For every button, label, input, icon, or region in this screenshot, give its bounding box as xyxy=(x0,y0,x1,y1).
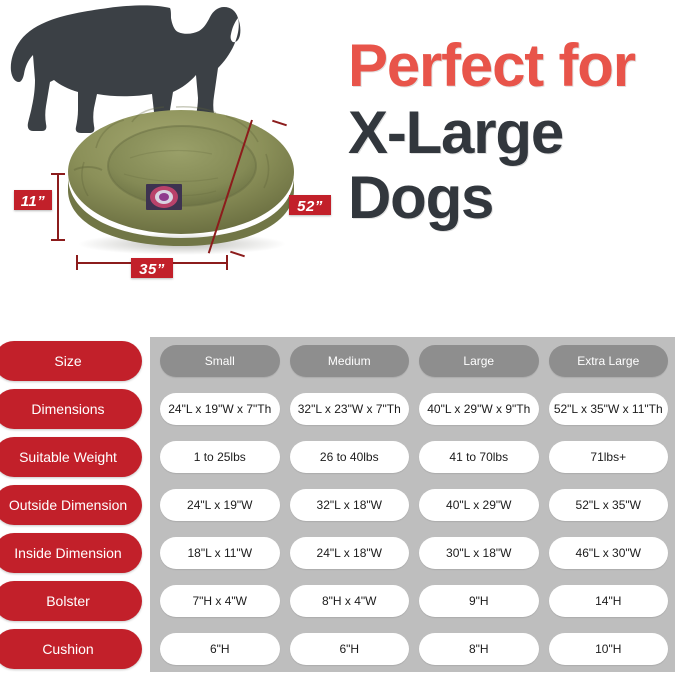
dimension-line-height xyxy=(57,173,59,241)
table-cell: 32"L x 23"W x 7"Th xyxy=(290,393,410,425)
table-cell: 52"L x 35"W xyxy=(549,489,669,521)
row-label-outside-dimension[interactable]: Outside Dimension xyxy=(0,485,142,525)
table-cell: 8"H x 4"W xyxy=(290,585,410,617)
table-header-row: SmallMediumLargeExtra Large xyxy=(160,345,668,385)
table-cell: 10"H xyxy=(549,633,669,665)
headline-block: Perfect for X-Large Dogs xyxy=(348,38,678,226)
table-cell: 71lbs+ xyxy=(549,441,669,473)
row-label-suitable-weight[interactable]: Suitable Weight xyxy=(0,437,142,477)
table-cell: 18"L x 11"W xyxy=(160,537,280,569)
dimension-label-width: 35” xyxy=(131,258,173,278)
table-cell: 46"L x 30"W xyxy=(549,537,669,569)
table-cell: 24"L x 18"W xyxy=(290,537,410,569)
dimension-cap-width-right xyxy=(226,255,228,270)
dimension-cap-height-top xyxy=(51,173,65,175)
table-row-label-column: SizeDimensionsSuitable WeightOutside Dim… xyxy=(0,337,148,672)
row-label-inside-dimension[interactable]: Inside Dimension xyxy=(0,533,142,573)
headline-line-1: Perfect for xyxy=(348,38,678,93)
hero-section: 11” 35” 52” Perfect for X-Large Dogs xyxy=(0,0,679,330)
headline-line-2: X-Large xyxy=(348,105,678,160)
column-header-large[interactable]: Large xyxy=(419,345,539,377)
table-cell: 40"L x 29"W x 9"Th xyxy=(419,393,539,425)
table-cell: 32"L x 18"W xyxy=(290,489,410,521)
table-cell: 26 to 40lbs xyxy=(290,441,410,473)
table-cell: 8"H xyxy=(419,633,539,665)
row-label-bolster[interactable]: Bolster xyxy=(0,581,142,621)
dimension-cap-width-left xyxy=(76,255,78,270)
size-spec-table: SizeDimensionsSuitable WeightOutside Dim… xyxy=(0,337,679,680)
table-row: 6"H6"H8"H10"H xyxy=(160,633,668,673)
row-label-cushion[interactable]: Cushion xyxy=(0,629,142,669)
table-cell: 30"L x 18"W xyxy=(419,537,539,569)
table-row: 18"L x 11"W24"L x 18"W30"L x 18"W46"L x … xyxy=(160,537,668,577)
table-cell: 24"L x 19"W xyxy=(160,489,280,521)
table-cell: 52"L x 35"W x 11"Th xyxy=(549,393,669,425)
row-label-size[interactable]: Size xyxy=(0,341,142,381)
column-header-medium[interactable]: Medium xyxy=(290,345,410,377)
table-cell: 9"H xyxy=(419,585,539,617)
table-cell: 24"L x 19"W x 7"Th xyxy=(160,393,280,425)
dimension-label-length: 52” xyxy=(289,195,331,215)
table-cell: 41 to 70lbs xyxy=(419,441,539,473)
row-label-dimensions[interactable]: Dimensions xyxy=(0,389,142,429)
table-cell: 1 to 25lbs xyxy=(160,441,280,473)
table-row: 1 to 25lbs26 to 40lbs41 to 70lbs71lbs+ xyxy=(160,441,668,481)
table-data-grid: SmallMediumLargeExtra Large24"L x 19"W x… xyxy=(160,345,668,681)
table-row: 24"L x 19"W x 7"Th32"L x 23"W x 7"Th40"L… xyxy=(160,393,668,433)
dimension-cap-height-bottom xyxy=(51,239,65,241)
table-row: 7"H x 4"W8"H x 4"W9"H14"H xyxy=(160,585,668,625)
table-cell: 6"H xyxy=(290,633,410,665)
column-header-small[interactable]: Small xyxy=(160,345,280,377)
column-header-extra-large[interactable]: Extra Large xyxy=(549,345,669,377)
table-cell: 6"H xyxy=(160,633,280,665)
brand-tag xyxy=(146,184,182,210)
dimension-label-height: 11” xyxy=(14,190,52,210)
headline-line-3: Dogs xyxy=(348,170,678,225)
product-photo-dog-bed xyxy=(60,96,302,256)
table-cell: 14"H xyxy=(549,585,669,617)
table-cell: 40"L x 29"W xyxy=(419,489,539,521)
table-cell: 7"H x 4"W xyxy=(160,585,280,617)
table-row: 24"L x 19"W32"L x 18"W40"L x 29"W52"L x … xyxy=(160,489,668,529)
